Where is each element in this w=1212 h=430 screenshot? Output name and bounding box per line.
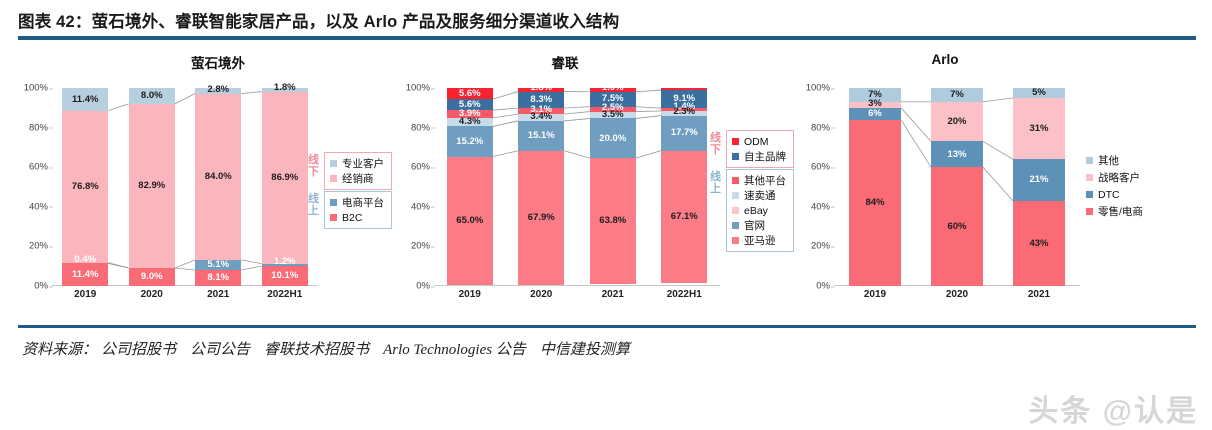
stacked-bar[interactable]: 7%3%6%84% [849,88,901,286]
legend-yingshi: 线 下专业客户经销商线 上电商平台B2C [324,152,392,230]
bar-segment[interactable]: 15.1% [518,121,564,151]
legend-item-label: 官网 [744,218,765,233]
x-axis-label: 2019 [834,289,916,300]
bar-column: 2.8%84.0%5.1%8.1% [195,88,241,286]
bar-segment[interactable]: 82.9% [129,104,175,268]
segment-value-label: 5% [1032,88,1046,98]
legend-item-label: 其他平台 [744,173,786,188]
segment-value-label: 13% [947,150,966,160]
bar-segment[interactable]: 10.1% [262,266,308,286]
legend-swatch-icon [330,214,337,221]
bar-column: 8.0%82.9%9.0% [129,88,175,286]
x-axis-label: 2020 [119,289,186,300]
bar-segment[interactable]: 3.5% [590,112,636,119]
y-axis-tick: 60% [29,162,48,173]
legend-item[interactable]: B2C [330,210,384,225]
bar-column: 11.4%76.8%0.4%11.4% [62,88,108,286]
bar-segment[interactable]: 65.0% [447,157,493,286]
legend-item-label: 自主品牌 [744,149,786,164]
y-axis-tick: 60% [811,162,830,173]
segment-value-label: 82.9% [138,181,165,191]
stacked-bar[interactable]: 2.8%84.0%5.1%8.1% [195,88,241,286]
bars-ruilian: 5.6%5.6%3.9%4.3%15.2%65.0%1.8%8.3%3.1%3.… [434,88,720,286]
chart-title-arlo: Arlo [800,52,1090,67]
segment-value-label: 11.4% [72,95,98,105]
legend-item[interactable]: 零售/电商 [1086,203,1143,220]
bar-segment[interactable]: 11.4% [62,263,108,286]
legend-box: ODM自主品牌 [726,130,794,168]
bar-segment[interactable]: 4.3% [447,118,493,127]
stacked-bar[interactable]: 7%20%13%60% [931,88,983,286]
legend-swatch-icon [330,160,337,167]
bar-segment[interactable]: 6% [849,108,901,120]
segment-value-label: 43% [1029,239,1048,249]
segment-value-label: 8.3% [530,95,552,105]
stacked-bar[interactable]: 5%31%21%43% [1013,88,1065,286]
legend-item-label: 速卖通 [744,188,776,203]
legend-swatch-icon [732,192,739,199]
legend-item[interactable]: ODM [732,134,786,149]
x-labels-ruilian: 2019202020212022H1 [434,286,720,304]
bar-column: 1.9%7.5%2.5%3.5%20.0%63.8% [590,88,636,286]
bar-segment[interactable]: 60% [931,167,983,286]
legend-swatch-icon [1086,174,1093,181]
legend-group: 线 下ODM自主品牌 [726,130,794,168]
y-axis-tick: 60% [411,162,430,173]
legend-swatch-icon [732,207,739,214]
legend-item-label: 经销商 [342,171,374,186]
segment-value-label: 31% [1029,124,1048,134]
chart-panel-arlo: Arlo 0%20%40%60%80%100% 7%3%6%84%7%20%13… [800,52,1200,314]
legend-item-label: 亚马逊 [744,233,776,248]
x-axis-label: 2021 [998,289,1080,300]
segment-value-label: 5.6% [459,89,481,99]
y-axis-tick: 100% [24,83,48,94]
segment-value-label: 15.2% [456,137,483,147]
segment-value-label: 76.8% [72,182,99,192]
bar-segment[interactable]: 17.7% [661,116,707,151]
chart-title-yingshi: 萤石境外 [18,52,418,72]
bar-segment[interactable]: 76.8% [62,111,108,263]
source-item: 中信建投测算 [540,342,630,358]
y-axis-tick: 20% [411,241,430,252]
x-labels-arlo: 201920202021 [834,286,1080,304]
bar-column: 1.8%86.9%1.2%10.1% [262,88,308,286]
chart-panel-yingshi: 萤石境外 0%20%40%60%80%100% 11.4%76.8%0.4%11… [18,52,418,314]
legend-item-label: eBay [744,205,768,217]
chart-panel-ruilian: 睿联 0%20%40%60%80%100% 5.6%5.6%3.9%4.3%15… [400,52,810,314]
bar-column: 7%20%13%60% [931,88,983,286]
bar-segment[interactable]: 21% [1013,159,1065,201]
bar-segment[interactable]: 31% [1013,98,1065,159]
x-axis-label: 2021 [577,289,649,300]
y-axis-yingshi: 0%20%40%60%80%100% [18,88,52,286]
legend-item-label: ODM [744,136,769,148]
legend-group-label: 线 上 [307,194,320,217]
y-axis-arlo: 0%20%40%60%80%100% [800,88,834,286]
y-axis-tick: 80% [811,122,830,133]
legend-item[interactable]: 自主品牌 [732,149,786,164]
legend-item[interactable]: 其他 [1086,152,1143,169]
legend-group: 线 上电商平台B2C [324,191,392,229]
segment-value-label: 5.1% [207,260,229,270]
source-item: Arlo Technologies 公告 [383,342,526,358]
bar-segment[interactable]: 5% [1013,88,1065,98]
source-note: 资料来源：公司招股书公司公告睿联技术招股书Arlo Technologies 公… [22,338,644,359]
bar-segment[interactable]: 8.0% [129,88,175,104]
source-label: 资料来源： [22,342,97,358]
bar-segment[interactable]: 84.0% [195,94,241,260]
bar-segment[interactable]: 67.1% [661,151,707,284]
y-axis-tick: 20% [811,241,830,252]
bar-segment[interactable]: 13% [931,141,983,167]
stacked-bar[interactable]: 11.4%76.8%0.4%11.4% [62,88,108,286]
bar-column: 5%31%21%43% [1013,88,1065,286]
x-axis-label: 2019 [52,289,119,300]
segment-value-label: 15.1% [528,131,555,141]
y-axis-tick: 40% [411,201,430,212]
footer-divider [18,325,1196,328]
legend-box: 专业客户经销商 [324,152,392,190]
legend-swatch-icon [732,177,739,184]
title-divider [18,36,1196,40]
y-axis-ruilian: 0%20%40%60%80%100% [400,88,434,286]
stacked-bar[interactable]: 1.9%7.5%2.5%3.5%20.0%63.8% [590,88,636,286]
segment-value-label: 10.1% [271,271,298,281]
y-axis-tick: 0% [816,281,830,292]
bar-segment[interactable]: 86.9% [262,92,308,264]
segment-value-label: 8.1% [207,273,229,283]
legend-item[interactable]: 官网 [732,218,786,233]
segment-value-label: 84% [865,198,884,208]
y-axis-tick: 80% [29,122,48,133]
chart-title-ruilian: 睿联 [400,52,730,72]
segment-value-label: 60% [947,222,966,232]
segment-value-label: 21% [1029,175,1048,185]
source-item: 公司招股书 [101,342,176,358]
x-axis-label: 2022H1 [649,289,721,300]
legend-swatch-icon [1086,157,1093,164]
stacked-bar[interactable]: 1.8%8.3%3.1%3.4%15.1%67.9% [518,88,564,286]
legend-arlo: 其他战略客户DTC零售/电商 [1086,152,1143,220]
bar-segment[interactable]: 5.6% [447,88,493,99]
legend-group: 线 上其他平台速卖通eBay官网亚马逊 [726,169,794,252]
segment-value-label: 67.1% [671,212,698,222]
segment-value-label: 20.0% [599,134,626,144]
legend-item[interactable]: 速卖通 [732,188,786,203]
segment-value-label: 67.9% [528,213,555,223]
legend-swatch-icon [330,175,337,182]
segment-value-label: 6% [868,109,882,119]
source-item: 睿联技术招股书 [264,342,369,358]
bar-column: 5.6%5.6%3.9%4.3%15.2%65.0% [447,88,493,286]
legend-item[interactable]: 专业客户 [330,156,384,171]
legend-swatch-icon [732,222,739,229]
source-item: 公司公告 [190,342,250,358]
segment-value-label: 11.4% [72,270,98,280]
legend-group-label: 线 上 [709,172,722,195]
legend-item[interactable]: 经销商 [330,171,384,186]
y-axis-tick: 0% [34,281,48,292]
legend-swatch-icon [330,199,337,206]
legend-item-label: 零售/电商 [1098,204,1143,219]
segment-value-label: 17.7% [671,128,698,138]
legend-swatch-icon [732,237,739,244]
legend-item[interactable]: 战略客户 [1086,169,1143,186]
legend-group: 线 下专业客户经销商 [324,152,392,190]
bar-segment[interactable]: 7% [931,88,983,102]
stacked-bar[interactable]: 5.6%5.6%3.9%4.3%15.2%65.0% [447,88,493,286]
segment-value-label: 7% [950,90,964,100]
x-axis-label: 2022H1 [252,289,319,300]
legend-item-label: 战略客户 [1098,170,1140,185]
y-axis-tick: 100% [806,83,830,94]
x-axis-label: 2019 [434,289,506,300]
stacked-bar[interactable]: 1.1%9.1%1.4%2.3%17.7%67.1% [661,88,707,286]
legend-group-label: 线 下 [709,133,722,156]
legend-item[interactable]: eBay [732,203,786,218]
y-axis-tick: 20% [29,241,48,252]
bar-column: 1.8%8.3%3.1%3.4%15.1%67.9% [518,88,564,286]
y-axis-tick: 40% [811,201,830,212]
bars-arlo: 7%3%6%84%7%20%13%60%5%31%21%43% [834,88,1080,286]
legend-group-label: 线 下 [307,155,320,178]
bar-column: 7%3%6%84% [849,88,901,286]
legend-swatch-icon [1086,191,1093,198]
bar-segment[interactable]: 84% [849,120,901,286]
plot-area-ruilian: 0%20%40%60%80%100% 5.6%5.6%3.9%4.3%15.2%… [400,88,720,286]
y-axis-tick: 0% [416,281,430,292]
bar-segment[interactable]: 9.0% [129,268,175,286]
bar-segment[interactable]: 3.4% [518,114,564,121]
x-axis-label: 2021 [185,289,252,300]
bar-segment[interactable]: 5.1% [195,260,241,270]
legend-item[interactable]: 亚马逊 [732,233,786,248]
stacked-bar[interactable]: 1.8%86.9%1.2%10.1% [262,88,308,286]
legend-item[interactable]: 其他平台 [732,173,786,188]
legend-ruilian: 线 下ODM自主品牌线 上其他平台速卖通eBay官网亚马逊 [726,130,794,253]
legend-box: 其他平台速卖通eBay官网亚马逊 [726,169,794,252]
legend-swatch-icon [732,153,739,160]
legend-item-label: 电商平台 [342,195,384,210]
x-labels-yingshi: 2019202020212022H1 [52,286,318,304]
legend-item[interactable]: DTC [1086,186,1143,203]
segment-value-label: 63.8% [599,216,626,226]
legend-item-label: B2C [342,212,362,224]
y-axis-tick: 40% [29,201,48,212]
legend-item-label: DTC [1098,189,1120,201]
bar-segment[interactable]: 63.8% [590,158,636,284]
bar-column: 1.1%9.1%1.4%2.3%17.7%67.1% [661,88,707,286]
y-axis-tick: 80% [411,122,430,133]
segment-value-label: 84.0% [205,172,232,182]
bar-segment[interactable]: 15.2% [447,126,493,156]
plot-area-arlo: 0%20%40%60%80%100% 7%3%6%84%7%20%13%60%5… [800,88,1080,286]
page-title: 图表 42：萤石境外、睿联智能家居产品，以及 Arlo 产品及服务细分渠道收入结… [18,8,1198,32]
segment-value-label: 86.9% [271,173,298,183]
segment-value-label: 65.0% [456,216,483,226]
legend-item-label: 专业客户 [342,156,384,171]
bar-segment[interactable]: 8.1% [195,270,241,286]
segment-value-label: 8.0% [141,91,163,101]
y-axis-tick: 100% [406,83,430,94]
stacked-bar[interactable]: 8.0%82.9%9.0% [129,88,175,286]
plot-area-yingshi: 0%20%40%60%80%100% 11.4%76.8%0.4%11.4%8.… [18,88,318,286]
legend-item[interactable]: 电商平台 [330,195,384,210]
bar-segment[interactable]: 20% [931,102,983,142]
watermark: 头条 @认是 [1028,386,1198,430]
figure-page: 图表 42：萤石境外、睿联智能家居产品，以及 Arlo 产品及服务细分渠道收入结… [0,0,1212,428]
legend-swatch-icon [1086,208,1093,215]
bar-segment[interactable]: 67.9% [518,151,564,285]
x-axis-label: 2020 [916,289,998,300]
x-axis-label: 2020 [506,289,578,300]
bar-segment[interactable]: 43% [1013,201,1065,286]
bar-segment[interactable]: 20.0% [590,118,636,158]
segment-value-label: 9.0% [141,272,163,282]
segment-value-label: 20% [947,117,966,127]
bar-segment[interactable]: 11.4% [62,88,108,111]
bars-yingshi: 11.4%76.8%0.4%11.4%8.0%82.9%9.0%2.8%84.0… [52,88,318,286]
legend-box: 电商平台B2C [324,191,392,229]
legend-item-label: 其他 [1098,153,1119,168]
legend-swatch-icon [732,138,739,145]
